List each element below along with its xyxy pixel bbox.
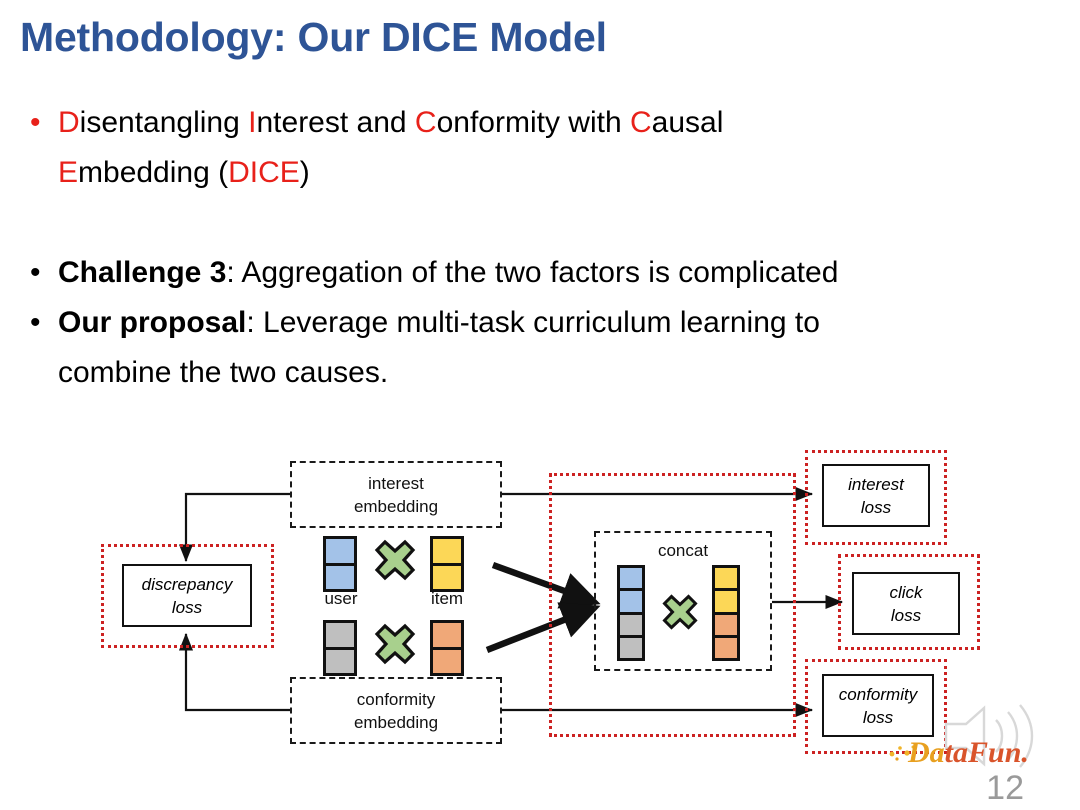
vector-cell [620,638,642,658]
vector-cell [620,568,642,591]
concat-label: concat [658,539,708,562]
multiply-icon [374,539,416,581]
interest-loss-label-line1: interest [848,473,904,496]
conformity-embedding-label-line2: embedding [354,711,438,734]
vector-cell [433,566,461,590]
click-loss-box: click loss [852,572,960,635]
user-conformity-vector [323,620,357,676]
item-interest-vector [430,536,464,592]
vector-cell [715,638,737,658]
vector-cell [433,539,461,566]
vector-cell [620,615,642,638]
click-loss-label-line2: loss [891,604,921,627]
dice-model-diagram: interest embedding conformity embedding … [0,0,1080,810]
vector-cell [326,566,354,590]
page-number: 12 [986,769,1024,808]
vector-cell [715,568,737,591]
interest-embedding-box: interest embedding [290,461,502,528]
conformity-embedding-label-line1: conformity [357,688,435,711]
multiply-icon [374,623,416,665]
interest-embedding-label-line2: embedding [354,495,438,518]
discrepancy-loss-label-line2: loss [172,596,202,619]
datafun-watermark: DataFun. [884,702,1074,782]
interest-loss-label-line2: loss [861,496,891,519]
user-label: user [303,589,379,609]
vector-cell [715,615,737,638]
vector-cell [433,650,461,674]
user-interest-vector [323,536,357,592]
item-label: item [409,589,485,609]
brand-text: DataFun. [907,736,1029,769]
vector-cell [326,539,354,566]
discrepancy-loss-label-line1: discrepancy [142,573,233,596]
concat-item-vector [712,565,740,661]
vector-cell [620,591,642,614]
discrepancy-loss-box: discrepancy loss [122,564,252,627]
interest-embedding-label-line1: interest [368,472,424,495]
vector-cell [326,623,354,650]
multiply-icon [662,594,698,630]
item-conformity-vector [430,620,464,676]
vector-cell [433,623,461,650]
vector-cell [326,650,354,674]
conformity-embedding-box: conformity embedding [290,677,502,744]
interest-loss-box: interest loss [822,464,930,527]
click-loss-label-line1: click [889,581,922,604]
vector-cell [715,591,737,614]
concat-user-vector [617,565,645,661]
